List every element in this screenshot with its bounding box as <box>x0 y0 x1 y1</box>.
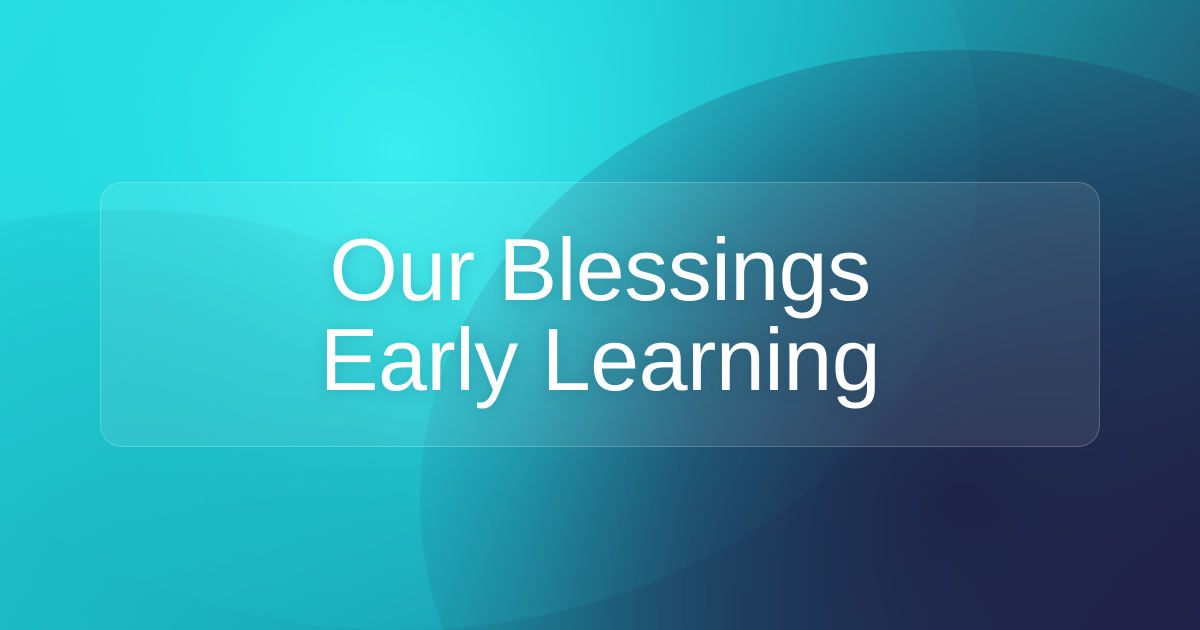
glass-card-panel: Our Blessings Early Learning <box>100 182 1100 447</box>
card-content-wrapper: Our Blessings Early Learning <box>145 225 1055 405</box>
og-card-canvas: Our Blessings Early Learning <box>0 0 1200 630</box>
page-title: Our Blessings Early Learning <box>220 225 980 405</box>
